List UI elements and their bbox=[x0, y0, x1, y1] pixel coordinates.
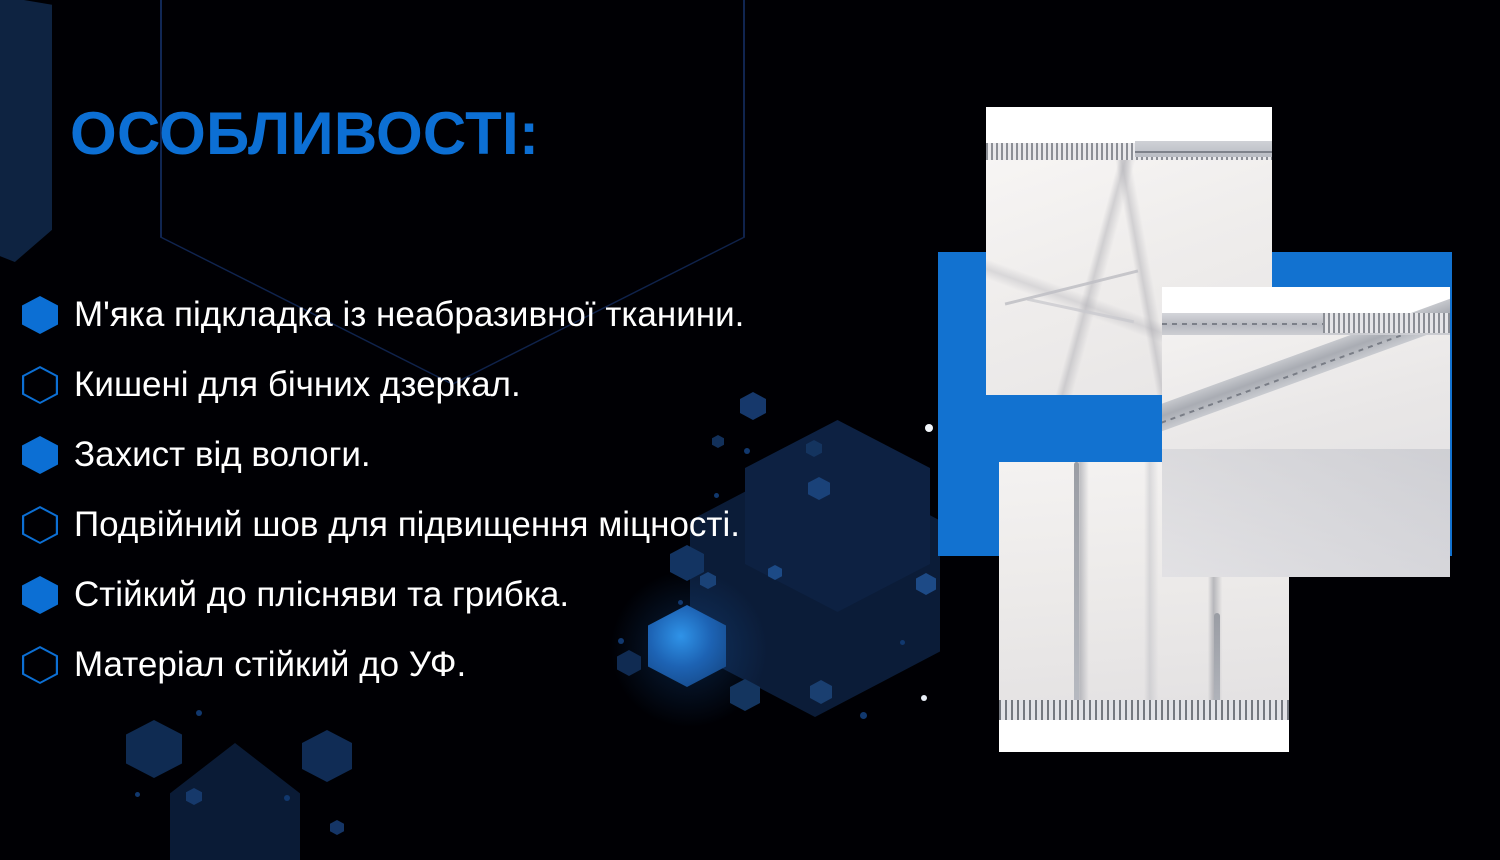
product-photo-fabric-double-seam bbox=[1162, 287, 1450, 577]
list-item: Матеріал стійкий до УФ. bbox=[0, 630, 980, 700]
list-item: М'яка підкладка із неабразивної тканини. bbox=[0, 280, 980, 350]
list-item: Кишені для бічних дзеркал. bbox=[0, 350, 980, 420]
bottom-pentagon-shape bbox=[170, 743, 300, 860]
list-item-label: Подвійний шов для підвищення міцності. bbox=[74, 506, 740, 545]
list-item-label: М'яка підкладка із неабразивної тканини. bbox=[74, 296, 744, 335]
dot-speck bbox=[196, 710, 202, 716]
slide-canvas: ОСОБЛИВОСТІ: М'яка підкладка із неабрази… bbox=[0, 0, 1500, 860]
hexagon-speck-icon bbox=[302, 730, 352, 782]
hexagon-outline-icon bbox=[22, 366, 58, 404]
hexagon-speck-icon bbox=[126, 720, 182, 778]
hexagon-filled-icon bbox=[22, 436, 58, 474]
hexagon-filled-icon bbox=[22, 296, 58, 334]
list-item-label: Матеріал стійкий до УФ. bbox=[74, 646, 466, 685]
left-edge-shape bbox=[0, 0, 52, 262]
list-item: Стійкий до плісняви та грибка. bbox=[0, 560, 980, 630]
hexagon-speck-icon bbox=[330, 820, 344, 835]
hexagon-filled-icon bbox=[22, 576, 58, 614]
features-list: М'яка підкладка із неабразивної тканини.… bbox=[0, 280, 980, 700]
hexagon-outline-icon bbox=[22, 506, 58, 544]
list-item-label: Стійкий до плісняви та грибка. bbox=[74, 576, 569, 615]
dot-speck bbox=[135, 792, 140, 797]
hexagon-speck-icon bbox=[126, 720, 182, 778]
dot-speck bbox=[860, 712, 867, 719]
list-item: Захист від вологи. bbox=[0, 420, 980, 490]
list-item-label: Кишені для бічних дзеркал. bbox=[74, 366, 521, 405]
list-item: Подвійний шов для підвищення міцності. bbox=[0, 490, 980, 560]
page-title: ОСОБЛИВОСТІ: bbox=[70, 104, 539, 164]
hexagon-speck-icon bbox=[186, 788, 202, 805]
list-item-label: Захист від вологи. bbox=[74, 436, 371, 475]
dot-speck bbox=[284, 795, 290, 801]
hexagon-outline-icon bbox=[22, 646, 58, 684]
